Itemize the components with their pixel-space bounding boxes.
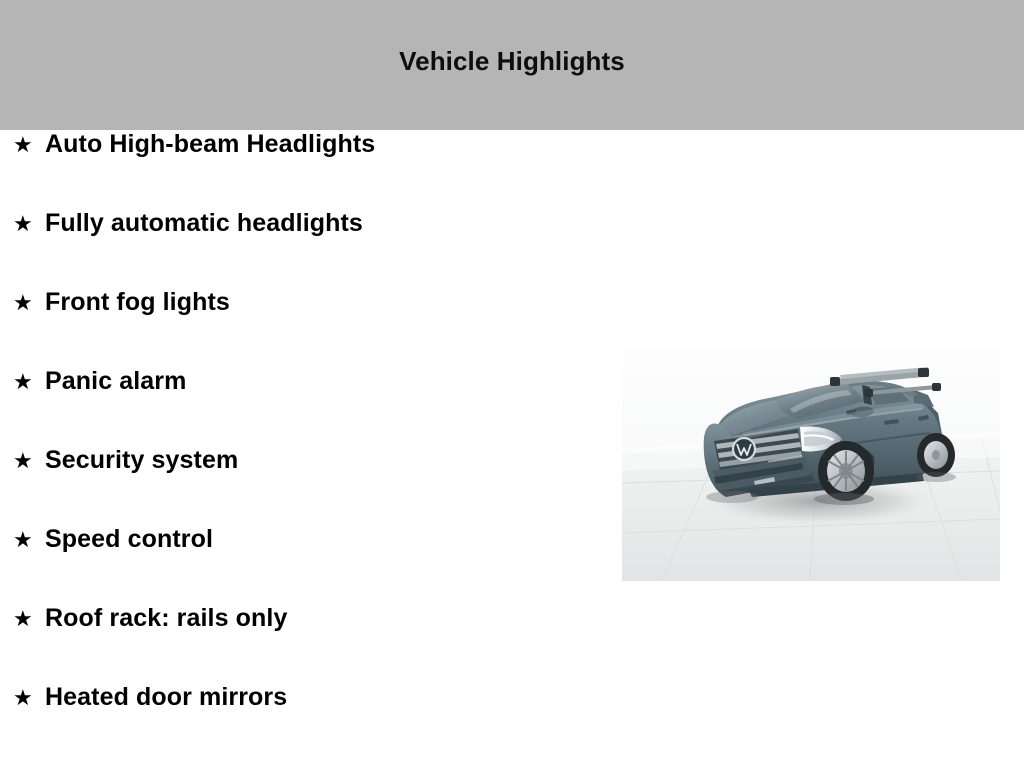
list-item: ★ Panic alarm xyxy=(0,367,600,446)
list-item: ★ Security system xyxy=(0,446,600,525)
star-bullet-icon: ★ xyxy=(13,529,45,551)
list-item: ★ Heated door mirrors xyxy=(0,683,600,762)
list-item: ★ Front fog lights xyxy=(0,288,600,367)
star-bullet-icon: ★ xyxy=(13,371,45,393)
vehicle-photo xyxy=(622,305,1000,581)
vehicle-photo-illustration xyxy=(622,305,1000,581)
front-wheel xyxy=(818,441,874,501)
star-bullet-icon: ★ xyxy=(13,292,45,314)
list-item: ★ Speed control xyxy=(0,525,600,604)
highlight-label: Fully automatic headlights xyxy=(45,209,363,238)
highlight-label: Panic alarm xyxy=(45,367,186,396)
star-bullet-icon: ★ xyxy=(13,687,45,709)
highlight-label: Security system xyxy=(45,446,238,475)
vehicle-highlights-list: ★ Auto High-beam Headlights ★ Fully auto… xyxy=(0,130,600,762)
list-item: ★ Auto High-beam Headlights xyxy=(0,130,600,209)
page-header: Vehicle Highlights xyxy=(0,0,1024,130)
highlight-label: Roof rack: rails only xyxy=(45,604,287,633)
vw-badge xyxy=(733,438,755,460)
star-bullet-icon: ★ xyxy=(13,608,45,630)
highlight-label: Auto High-beam Headlights xyxy=(45,130,375,159)
vehicle-highlights-page: Vehicle Highlights ★ Auto High-beam Head… xyxy=(0,0,1024,768)
page-title: Vehicle Highlights xyxy=(399,46,625,77)
list-item: ★ Fully automatic headlights xyxy=(0,209,600,288)
star-bullet-icon: ★ xyxy=(13,134,45,156)
star-bullet-icon: ★ xyxy=(13,213,45,235)
rear-wheel xyxy=(917,433,955,477)
list-item: ★ Roof rack: rails only xyxy=(0,604,600,683)
star-bullet-icon: ★ xyxy=(13,450,45,472)
highlight-label: Heated door mirrors xyxy=(45,683,287,712)
highlight-label: Front fog lights xyxy=(45,288,230,317)
highlight-label: Speed control xyxy=(45,525,213,554)
